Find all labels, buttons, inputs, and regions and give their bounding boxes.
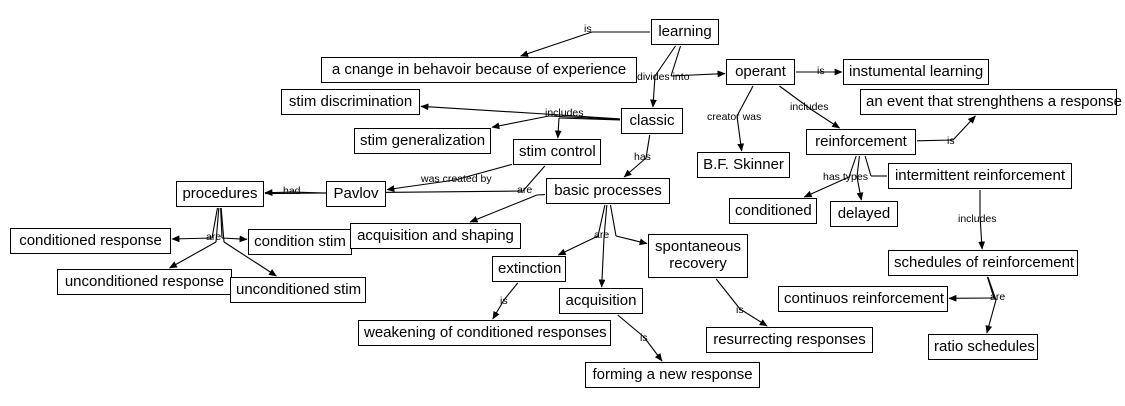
- edge-basic-are-acquisition-shaping-out: [470, 195, 537, 222]
- concept-node-stim_control[interactable]: stim control: [513, 139, 601, 165]
- concept-node-pavlov[interactable]: Pavlov: [326, 181, 386, 207]
- concept-node-unconditioned_response[interactable]: unconditioned response: [57, 269, 232, 295]
- edge-classic-includes-discrimination-out: [421, 106, 545, 114]
- concept-node-delayed[interactable]: delayed: [830, 201, 898, 227]
- edge-label-was_created_by: was created by: [421, 174, 492, 185]
- concept-node-event_strengthens[interactable]: an event that strenghthens a response: [860, 89, 1117, 115]
- edge-reinforcement-is-event-out: [953, 116, 975, 140]
- concept-node-intermittent_reinforcement[interactable]: intermittent reinforcement: [888, 163, 1072, 189]
- edge-label-is_acquisition: is: [640, 333, 648, 344]
- concept-node-stim_generalization[interactable]: stim generalization: [354, 128, 491, 154]
- edge-classic-includes-generalization-out: [492, 116, 549, 127]
- concept-node-instrumental_learning[interactable]: instumental learning: [843, 59, 989, 85]
- edge-label-creator_was: creator was: [707, 112, 761, 123]
- edge-label-includes_operant: includes: [790, 102, 829, 113]
- concept-node-acquisition_shaping[interactable]: acquisition and shaping: [350, 223, 521, 249]
- edge-basic-are-extinction-out: [558, 236, 598, 255]
- concept-node-stim_discrimination[interactable]: stim discrimination: [281, 89, 420, 115]
- concept-node-learning[interactable]: learning: [651, 19, 719, 45]
- edge-label-divides_into: divides into: [637, 72, 690, 83]
- edge-label-includes_classic: includes: [545, 108, 584, 119]
- concept-node-procedures[interactable]: procedures: [176, 181, 264, 207]
- edge-basic-are-spontaneous-in: [610, 205, 616, 236]
- concept-node-extinction[interactable]: extinction: [492, 256, 566, 282]
- edge-label-has_types: has types: [823, 172, 868, 183]
- concept-node-continuous_reinforcement[interactable]: continuos reinforcement: [778, 286, 948, 312]
- edge-procedures-are-ucr-out: [170, 242, 216, 268]
- edge-label-are_schedules: are: [990, 292, 1005, 303]
- concept-node-bf_skinner[interactable]: B.F. Skinner: [697, 152, 790, 178]
- edge-stimcontrol-are-procedures-out: [265, 191, 523, 194]
- concept-node-ratio_schedules[interactable]: ratio schedules: [928, 334, 1038, 360]
- edge-basic-are-spontaneous-out: [616, 236, 647, 244]
- edge-label-are_basic_processes: are: [594, 230, 609, 241]
- concept-node-schedules_reinforcement[interactable]: schedules of reinforcement: [888, 250, 1078, 276]
- concept-node-acquisition[interactable]: acquisition: [559, 288, 643, 314]
- edge-label-had_pavlov: had: [283, 186, 301, 197]
- edge-label-has_classic_basic: has: [634, 152, 651, 163]
- concept-node-forming_new_response[interactable]: forming a new response: [585, 362, 760, 388]
- concept-node-resurrecting_responses[interactable]: resurrecting responses: [706, 327, 873, 353]
- edge-label-is_extinction: is: [500, 296, 508, 307]
- edge-label-are_stim_basic: are: [517, 185, 532, 196]
- edge-label-is_spontaneous: is: [736, 305, 744, 316]
- concept-node-unconditioned_stim[interactable]: unconditioned stim: [230, 277, 366, 303]
- edge-procedures-are-cs-out: [222, 238, 247, 239]
- concept-node-reinforcement[interactable]: reinforcement: [806, 129, 916, 155]
- edge-label-is_operant_instrumental: is: [817, 66, 825, 77]
- edge-label-are_procedures: are: [206, 232, 221, 243]
- edge-label-is_reinforcement_event: is: [947, 136, 955, 147]
- edge-spontaneous-is-resurrecting-out: [740, 309, 767, 326]
- concept-node-classic[interactable]: classic: [621, 108, 683, 134]
- concept-node-change_behavior[interactable]: a cnange in behavoir because of experien…: [321, 57, 637, 83]
- concept-node-conditioned[interactable]: conditioned: [729, 198, 817, 224]
- concept-node-spontaneous_recovery[interactable]: spontaneous recovery: [648, 234, 748, 278]
- edge-procedures-are-ucs-in: [221, 208, 224, 242]
- concept-node-operant[interactable]: operant: [726, 59, 795, 85]
- concept-node-conditioned_response[interactable]: conditioned response: [10, 228, 171, 254]
- edge-classic-includes-stimcontrol-out: [558, 118, 559, 138]
- edge-schedules-are-ratio-out: [987, 300, 996, 333]
- edge-learning-is-change-out: [521, 32, 592, 56]
- concept-node-basic_processes[interactable]: basic processes: [546, 178, 670, 204]
- edge-basic-are-acquisition-out: [602, 238, 604, 287]
- edge-label-includes_intermittent: includes: [958, 214, 997, 225]
- concept-node-weakening_responses[interactable]: weakening of conditioned responses: [358, 320, 611, 346]
- concept-map-canvas: learninga cnange in behavoir because of …: [0, 0, 1125, 406]
- edge-label-is_learning_change: is: [584, 24, 592, 35]
- concept-node-condition_stim[interactable]: condition stim: [248, 229, 352, 255]
